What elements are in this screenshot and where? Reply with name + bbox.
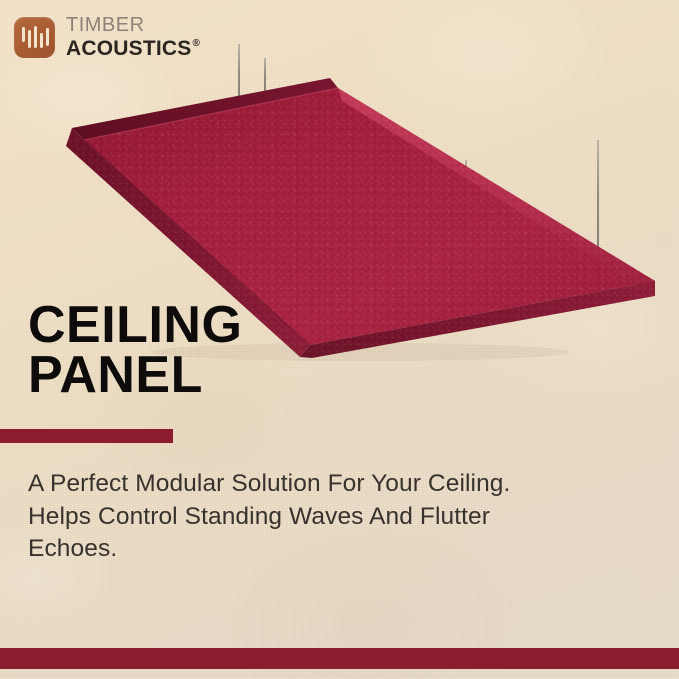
description-line1: A Perfect Modular Solution For Your	[28, 470, 421, 497]
product-marketing-image: TIMBER ACOUSTICS ® CEILING PANEL A Perfe…	[0, 0, 679, 679]
brand-name-line2: ACOUSTICS	[66, 38, 191, 59]
logo-bar-5	[46, 28, 49, 46]
footer-accent-bar	[0, 648, 679, 669]
logo-bar-4	[40, 33, 43, 48]
logo-bar-1	[22, 27, 25, 42]
accent-divider	[0, 429, 173, 443]
logo-bar-3	[34, 26, 37, 48]
brand-wordmark: TIMBER ACOUSTICS ®	[66, 15, 200, 59]
registered-trademark-symbol: ®	[192, 39, 200, 49]
brand-name-line1: TIMBER	[66, 15, 200, 35]
brand-logo-lockup: TIMBER ACOUSTICS ®	[14, 15, 200, 59]
page-title: CEILING PANEL	[28, 300, 242, 401]
logo-bar-2	[28, 30, 31, 48]
product-description: A Perfect Modular Solution For Your Ceil…	[28, 468, 548, 566]
brand-name-line2-wrap: ACOUSTICS ®	[66, 38, 200, 59]
page-title-line2: PANEL	[28, 350, 242, 400]
page-title-line1: CEILING	[28, 300, 242, 350]
timber-bars-icon	[14, 17, 55, 58]
